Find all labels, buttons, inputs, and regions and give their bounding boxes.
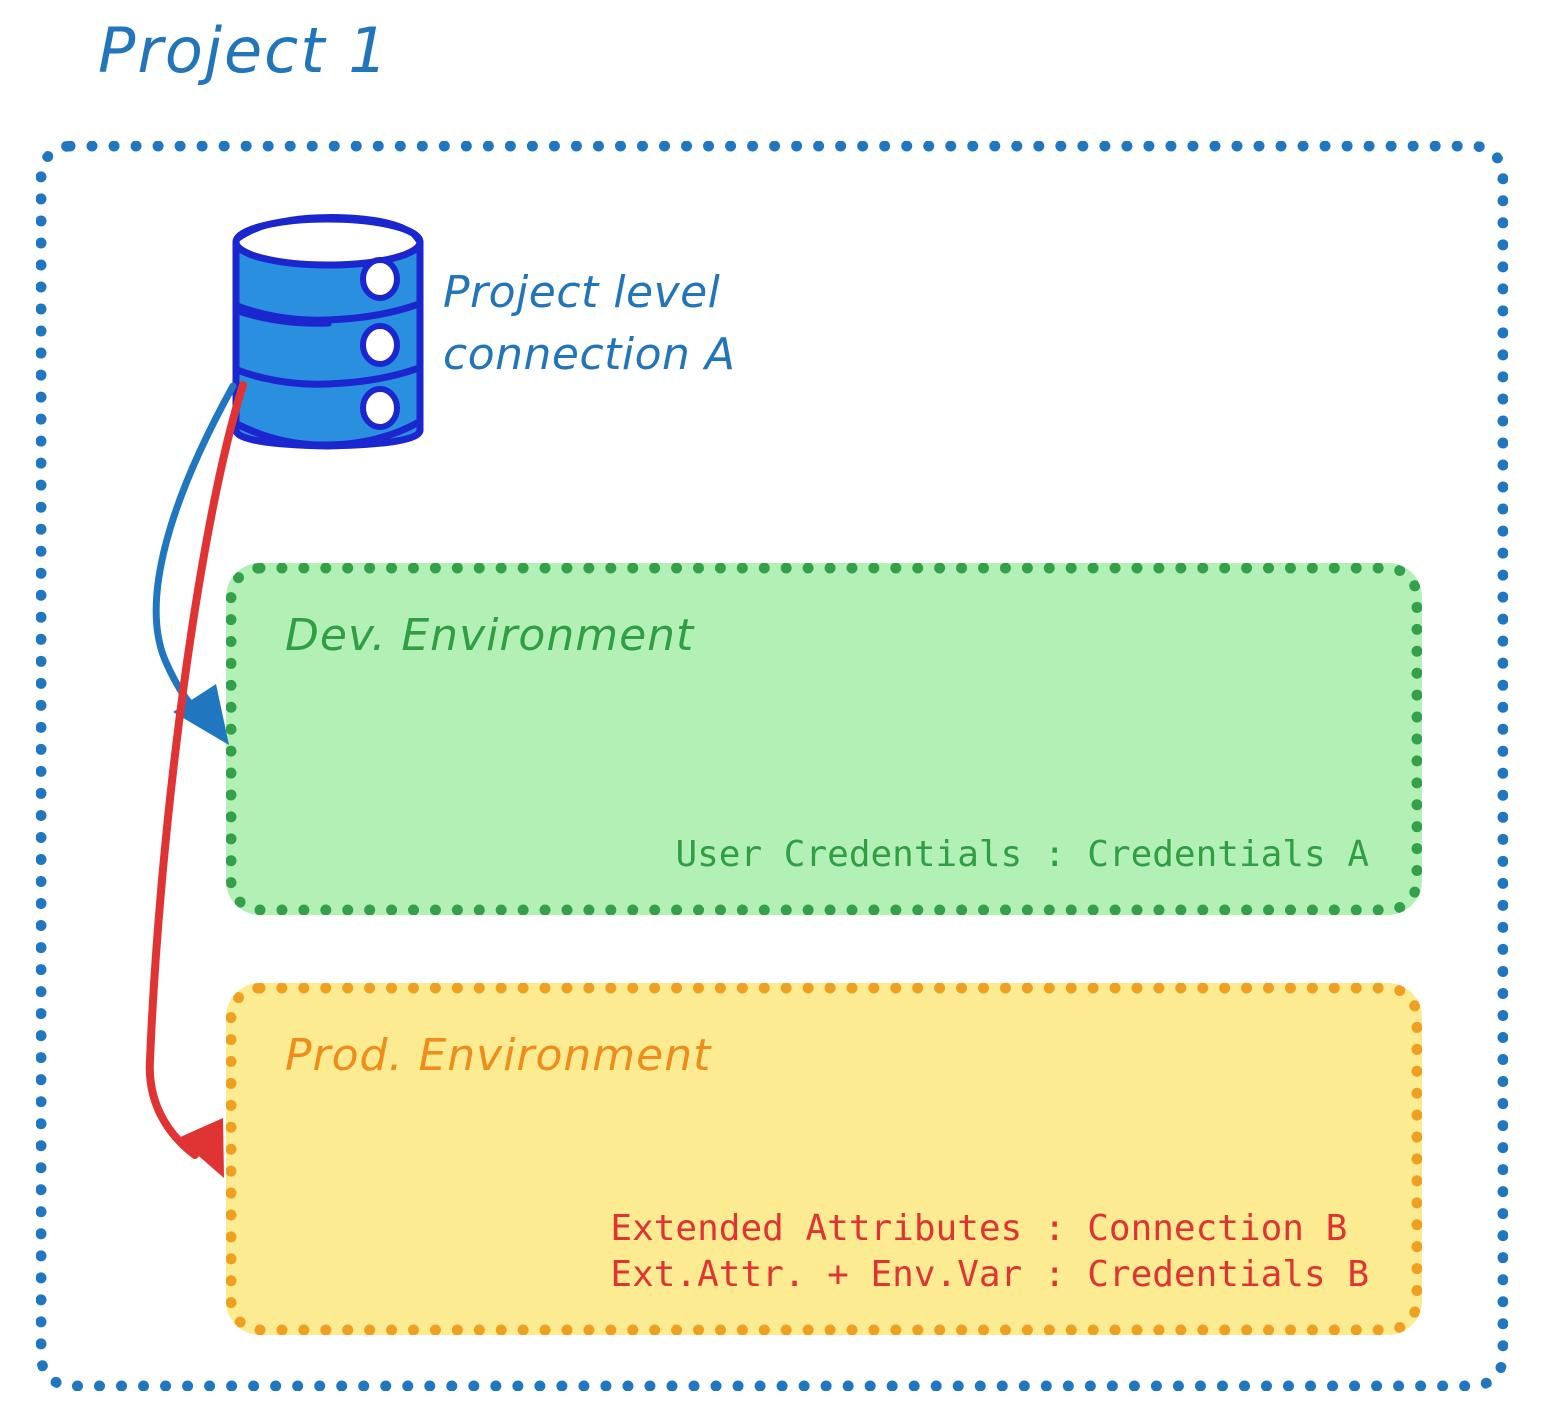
- prod-environment-details: Extended Attributes : Connection B Ext.A…: [610, 1206, 1369, 1298]
- prod-environment-title: Prod. Environment: [285, 1030, 711, 1081]
- dev-environment-details: User Credentials : Credentials A: [675, 832, 1369, 878]
- database-cylinder-icon: [228, 212, 428, 462]
- database-label-line-1: Project level: [443, 262, 736, 324]
- dev-detail-line-1: User Credentials : Credentials A: [675, 832, 1369, 878]
- diagram-canvas: Project 1 Project level connection A: [0, 0, 1553, 1415]
- database-label: Project level connection A: [443, 262, 736, 387]
- dev-environment-title: Dev. Environment: [285, 610, 694, 661]
- prod-detail-line-2: Ext.Attr. + Env.Var : Credentials B: [610, 1252, 1369, 1298]
- prod-environment-box: Prod. Environment Extended Attributes : …: [226, 983, 1422, 1335]
- dev-environment-box: Dev. Environment User Credentials : Cred…: [226, 563, 1422, 915]
- prod-detail-line-1: Extended Attributes : Connection B: [610, 1206, 1369, 1252]
- database-label-line-2: connection A: [443, 324, 736, 386]
- page-title: Project 1: [98, 14, 390, 87]
